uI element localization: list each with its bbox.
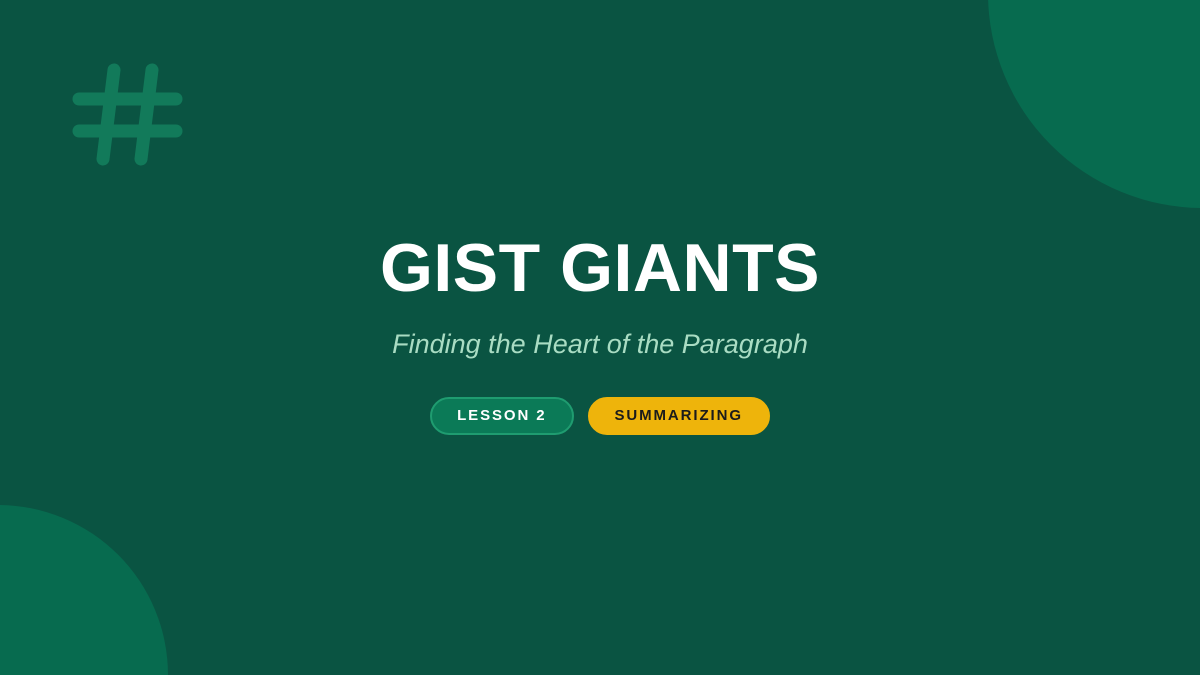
lesson-badge: LESSON 2: [430, 397, 573, 435]
title-slide: GIST GIANTS Finding the Heart of the Par…: [0, 0, 1200, 675]
topic-badge: SUMMARIZING: [588, 397, 770, 435]
page-subtitle: Finding the Heart of the Paragraph: [392, 330, 808, 360]
badge-row: LESSON 2 SUMMARIZING: [430, 397, 770, 435]
slide-content: GIST GIANTS Finding the Heart of the Par…: [0, 0, 1200, 675]
page-title: GIST GIANTS: [380, 234, 820, 302]
